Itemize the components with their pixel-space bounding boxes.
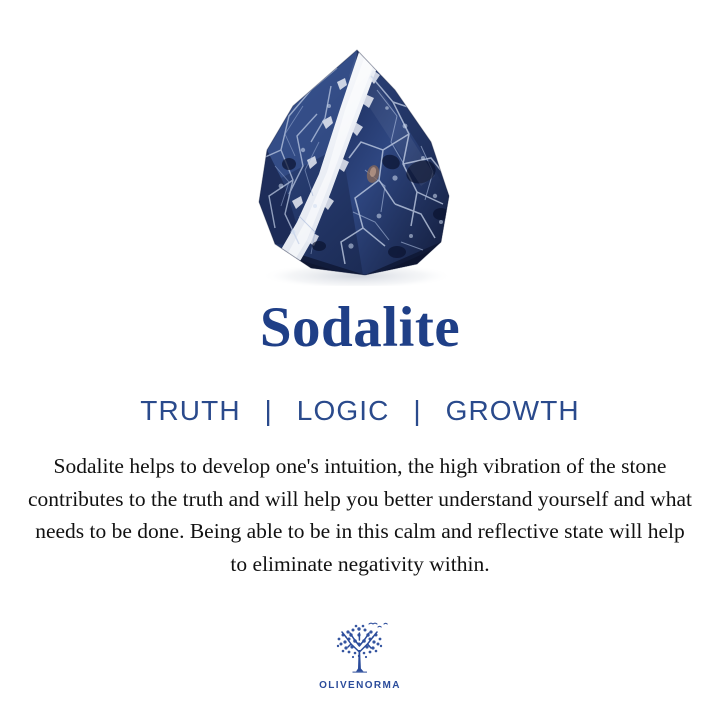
keyword-logic: LOGIC [297, 396, 390, 427]
keyword-separator: | [398, 396, 436, 427]
product-info-card: Sodalite TRUTH | LOGIC | GROWTH Sodalite… [0, 0, 720, 720]
page-title: Sodalite [0, 296, 720, 360]
brand-wordmark: OLIVENORMA [319, 680, 401, 691]
product-image-container [0, 36, 720, 286]
brand-logo: OLIVENORMA [0, 622, 720, 691]
keyword-growth: GROWTH [446, 396, 580, 427]
keyword-list: TRUTH | LOGIC | GROWTH [0, 396, 720, 427]
tree-of-life-icon [329, 622, 391, 678]
sodalite-crystal-point-image [245, 46, 475, 286]
product-description: Sodalite helps to develop one's intuitio… [26, 450, 694, 580]
keyword-separator: | [250, 396, 288, 427]
keyword-truth: TRUTH [140, 396, 240, 427]
